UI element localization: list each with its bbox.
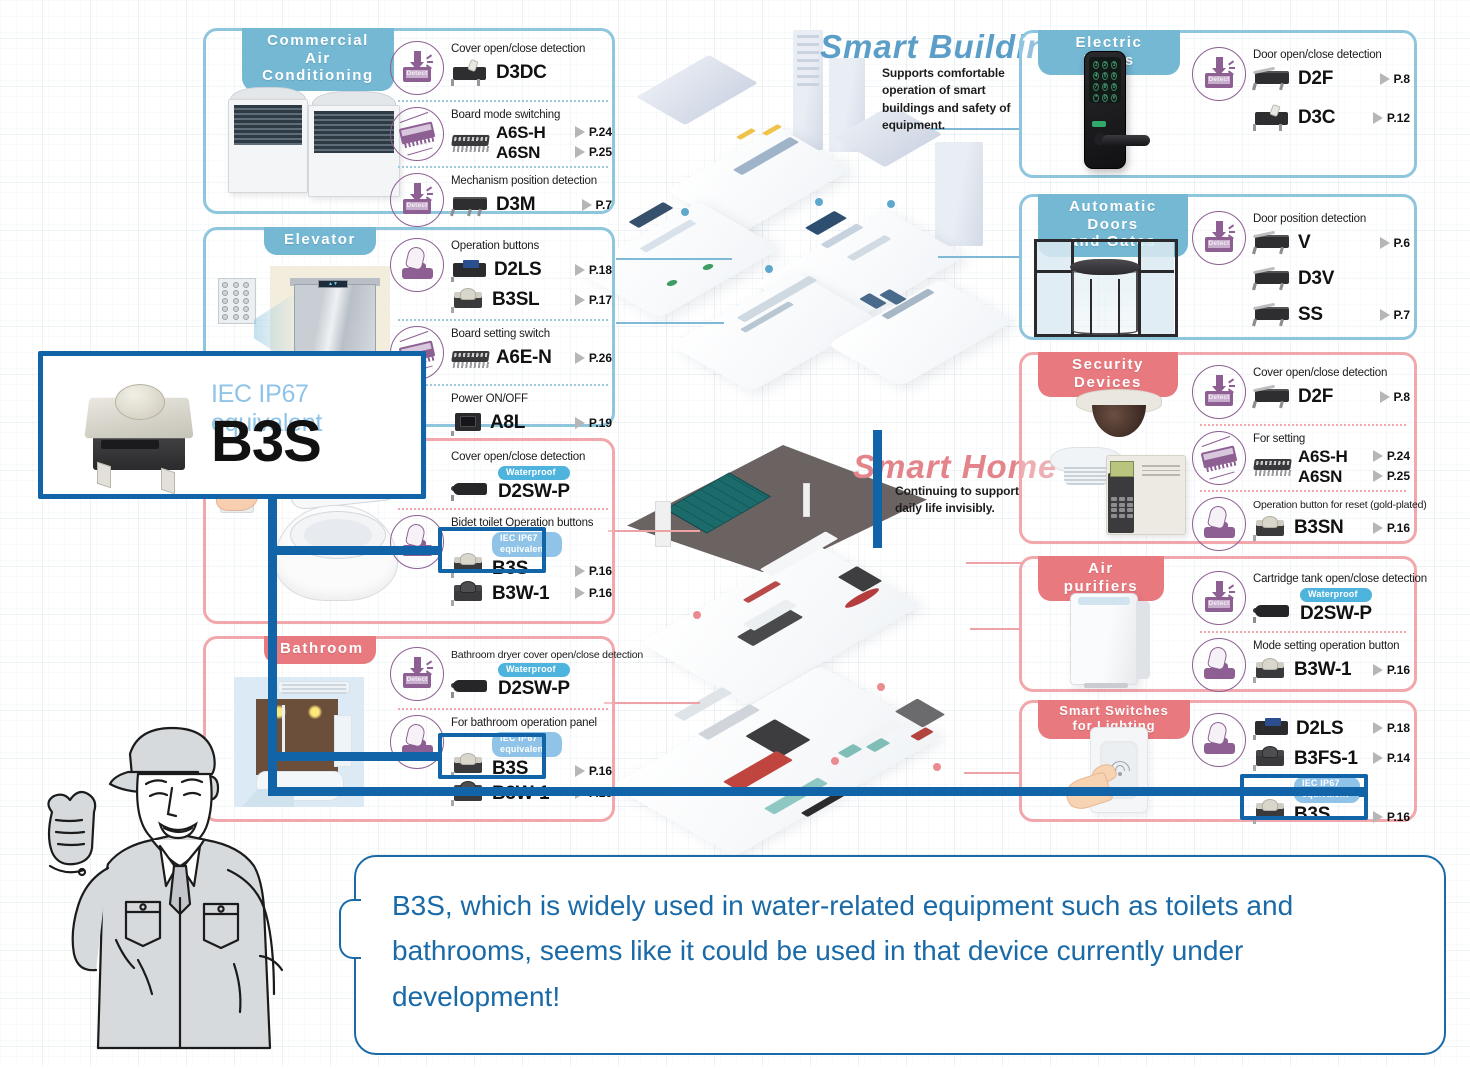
- arrow-icon: [575, 765, 585, 777]
- part-number: A6SN: [1298, 468, 1342, 485]
- panel-title-bathroom: Bathroom: [264, 636, 376, 664]
- waterproof-badge: Waterproof: [498, 466, 570, 480]
- part-number: A6SN: [496, 144, 540, 161]
- product-row[interactable]: Detect Door position detection V P.6: [1192, 211, 1410, 330]
- engineer-character-illustration: [12, 716, 322, 1066]
- page-reference[interactable]: P.16: [567, 764, 612, 778]
- product-row[interactable]: Detect Mechanism position detection D3M …: [390, 173, 612, 227]
- arrow-icon: [575, 565, 585, 577]
- row-caption: Cover open/close detection: [451, 451, 612, 465]
- arrow-icon: [1373, 722, 1383, 734]
- detect-icon: Detect: [1192, 47, 1246, 101]
- detect-icon: Detect: [1192, 365, 1246, 419]
- b3s-callout[interactable]: IEC IP67 equivalent B3S: [38, 351, 426, 499]
- page-reference[interactable]: P.12: [1365, 111, 1410, 125]
- product-row[interactable]: D2LS P.18 B3FS-1 P.14: [1192, 713, 1410, 824]
- speech-bubble: B3S, which is widely used in water-relat…: [354, 855, 1446, 1055]
- page-reference[interactable]: P.24: [1365, 449, 1410, 463]
- connector-line: [938, 256, 1022, 258]
- page-reference[interactable]: P.18: [567, 263, 612, 277]
- row-caption: Power ON/OFF: [451, 393, 612, 407]
- page-reference[interactable]: P.8: [1372, 390, 1410, 404]
- product-row[interactable]: Detect Bathroom dryer cover open/close d…: [390, 647, 612, 701]
- part-number: B3SL: [492, 290, 539, 309]
- part-number: V: [1298, 233, 1310, 252]
- waterproof-badge: Waterproof: [498, 663, 570, 677]
- press-button-icon: [1192, 497, 1246, 551]
- product-row[interactable]: Bidet toilet Operation buttons IEC IP67 …: [390, 515, 612, 608]
- arrow-icon: [1373, 470, 1383, 482]
- page-reference[interactable]: P.16: [567, 564, 612, 578]
- security-devices-photo: [1050, 389, 1186, 541]
- switch-b3w-1-icon: [1253, 657, 1289, 683]
- connector-line: [964, 772, 1022, 774]
- part-number: A6S-H: [496, 124, 546, 141]
- connector-line: [608, 530, 700, 532]
- panel-commercial-air-conditioning[interactable]: Commercial Air Conditioning Detect Cover…: [203, 28, 615, 214]
- part-number: B3FS-1: [1294, 749, 1358, 768]
- detect-icon: Detect: [390, 173, 444, 227]
- row-caption: For setting: [1253, 433, 1410, 447]
- arrow-icon: [1373, 664, 1383, 676]
- switch-d2f-icon: [1253, 68, 1293, 90]
- switch-d2sw-p-icon: [451, 676, 493, 698]
- switch-d2sw-p-icon: [1253, 601, 1295, 623]
- page-reference[interactable]: P.16: [1365, 521, 1410, 535]
- page-reference[interactable]: P.7: [574, 198, 612, 212]
- page-reference[interactable]: P.14: [1365, 751, 1410, 765]
- switch-d2ls-icon: [451, 258, 489, 282]
- page-reference[interactable]: P.25: [1365, 469, 1410, 483]
- electric-lock-photo: 123456789*0#: [1064, 47, 1150, 173]
- switch-a6s-icon: [1253, 455, 1293, 477]
- arrow-icon: [1373, 752, 1383, 764]
- row-caption: Bathroom dryer cover open/close detectio…: [451, 649, 612, 662]
- part-number: B3S: [1294, 805, 1360, 824]
- switch-b3s-icon: [1253, 798, 1289, 824]
- switch-a6e-n-icon: [451, 347, 491, 369]
- switch-d2sw-p-icon: [451, 479, 493, 501]
- row-caption: For bathroom operation panel: [451, 717, 612, 731]
- arrow-icon: [575, 294, 585, 306]
- row-caption: Cartridge tank open/close detection: [1253, 573, 1410, 587]
- page-reference[interactable]: P.17: [567, 293, 612, 307]
- part-number: D2SW-P: [498, 679, 570, 698]
- row-caption: Door position detection: [1253, 213, 1410, 227]
- part-number: A6S-H: [1298, 448, 1348, 465]
- ip67-badge: IEC IP67 equivalent: [492, 532, 562, 558]
- waterproof-badge: Waterproof: [1300, 588, 1372, 602]
- arrow-icon: [575, 587, 585, 599]
- arrow-icon: [575, 417, 585, 429]
- arrow-icon: [1373, 811, 1383, 823]
- highlight-connector: [268, 546, 442, 555]
- switch-d2ls-icon: [1253, 716, 1291, 740]
- panel-title-elevator: Elevator: [264, 227, 376, 255]
- arrow-icon: [1373, 450, 1383, 462]
- switch-b3s-icon: [451, 552, 487, 578]
- part-number: D2LS: [1296, 719, 1343, 738]
- speech-bubble-text: B3S, which is widely used in water-relat…: [356, 857, 1444, 1045]
- arrow-icon: [575, 264, 585, 276]
- part-number: D3C: [1298, 108, 1335, 127]
- ip67-badge: IEC IP67 equivalent: [492, 732, 562, 758]
- page-reference[interactable]: P.7: [1372, 308, 1410, 322]
- panel-smart-switches-for-lighting[interactable]: Smart Switches for Lighting D2LS: [1019, 700, 1417, 822]
- row-caption: Mode setting operation button: [1253, 640, 1410, 654]
- highlight-connector: [873, 430, 882, 548]
- part-number: A8L: [490, 413, 525, 432]
- switch-a8l-icon: [451, 410, 485, 436]
- switch-ss-icon: [1253, 304, 1293, 326]
- connector-line: [966, 562, 1022, 564]
- arrow-icon: [1380, 73, 1390, 85]
- setting-icon: [1192, 431, 1246, 485]
- page-reference[interactable]: P.16: [1365, 810, 1410, 824]
- page-reference[interactable]: P.16: [567, 586, 612, 600]
- switch-d3c-icon: [1253, 105, 1293, 131]
- switch-b3sl-icon: [451, 287, 487, 313]
- detect-icon: Detect: [1192, 211, 1246, 265]
- arrow-icon: [1373, 112, 1383, 124]
- product-row[interactable]: Detect Cartridge tank open/close detecti…: [1192, 571, 1410, 625]
- switch-b3sn-icon: [1253, 515, 1289, 541]
- switch-b3w-1-icon: [451, 580, 487, 606]
- row-caption: Cover open/close detection: [451, 43, 612, 57]
- part-number: SS: [1298, 305, 1323, 324]
- panel-title-commercial-air-conditioning: Commercial Air Conditioning: [242, 28, 394, 91]
- part-number: D2SW-P: [498, 482, 570, 501]
- arrow-icon: [582, 199, 592, 211]
- product-row[interactable]: Mode setting operation button B3W-1 P.16: [1192, 638, 1410, 692]
- smart-building-subtitle: Supports comfortable operation of smart …: [882, 65, 1010, 135]
- highlight-connector: [268, 787, 1368, 796]
- page-reference[interactable]: P.16: [1365, 663, 1410, 677]
- part-number: D2F: [1298, 69, 1333, 88]
- switch-d3v-icon: [1253, 268, 1293, 290]
- page-reference[interactable]: P.24: [567, 125, 612, 139]
- part-number: D2F: [1298, 387, 1333, 406]
- product-row[interactable]: Board mode switching A6S-H P.24: [390, 107, 612, 161]
- page-reference[interactable]: P.26: [567, 351, 612, 365]
- part-number: D2SW-P: [1300, 604, 1372, 623]
- product-row[interactable]: Detect Door open/close detection D2F P.8: [1192, 47, 1410, 133]
- press-button-icon: [390, 238, 444, 292]
- switch-d3m-icon: [451, 194, 491, 216]
- press-button-icon: [390, 515, 444, 569]
- panel-air-purifiers[interactable]: Air purifiers Detect Cartridge tank open…: [1019, 556, 1417, 692]
- row-caption: Board mode switching: [451, 109, 612, 123]
- row-caption: Door open/close detection: [1253, 49, 1410, 63]
- switch-d2f-icon: [1253, 386, 1293, 408]
- part-number: A6E-N: [496, 348, 552, 367]
- arrow-icon: [575, 126, 585, 138]
- connector-line: [604, 702, 700, 704]
- row-caption: Operation button for reset (gold-plated): [1253, 499, 1410, 512]
- part-number: B3W-1: [1294, 660, 1351, 679]
- smart-home-subtitle: Continuing to support daily life invisib…: [895, 483, 1019, 518]
- highlight-connector: [1359, 787, 1368, 797]
- part-number: D3M: [496, 195, 535, 214]
- arrow-icon: [1380, 391, 1390, 403]
- row-caption: Mechanism position detection: [451, 175, 612, 189]
- page-reference[interactable]: P.19: [567, 416, 612, 430]
- air-purifier-photo: [1066, 589, 1160, 689]
- detect-icon: Detect: [390, 647, 444, 701]
- page-reference[interactable]: P.6: [1372, 236, 1410, 250]
- b3s-callout-part: B3S: [211, 413, 321, 471]
- connector-line: [616, 258, 732, 260]
- press-button-icon: [1192, 713, 1246, 767]
- product-row[interactable]: Operation button for reset (gold-plated)…: [1192, 497, 1410, 551]
- connector-line: [970, 628, 1022, 630]
- arrow-icon: [575, 146, 585, 158]
- page-reference[interactable]: P.18: [1365, 721, 1410, 735]
- detect-icon: Detect: [390, 41, 444, 95]
- panel-automatic-doors-and-gates[interactable]: Automatic Doors and Gates Detect Door po…: [1019, 194, 1417, 340]
- b3s-switch-photo: [85, 378, 201, 486]
- connector-line: [616, 322, 724, 324]
- arrow-icon: [1380, 237, 1390, 249]
- arrow-icon: [1373, 522, 1383, 534]
- product-row[interactable]: Detect Cover open/close detection D2F P.…: [1192, 365, 1410, 419]
- part-number: B3S: [492, 759, 562, 778]
- part-number: D3V: [1298, 269, 1334, 288]
- panel-electric-locks[interactable]: Electric Locks 123456789*0# Detect Door …: [1019, 30, 1417, 178]
- switch-b3s-icon: [451, 752, 487, 778]
- air-conditioner-photo: [216, 87, 406, 203]
- arrow-icon: [575, 352, 585, 364]
- switch-b3fs-1-icon: [1253, 745, 1289, 771]
- part-number: B3S: [492, 559, 562, 578]
- revolving-door-photo: [1034, 239, 1178, 337]
- switch-d3dc-icon: [451, 60, 491, 86]
- panel-security-devices[interactable]: Security Devices Detect: [1019, 352, 1417, 544]
- product-row[interactable]: Detect Cover open/close detection D3DC: [390, 41, 612, 95]
- product-row[interactable]: For setting A6S-H P.24: [1192, 431, 1410, 485]
- product-row[interactable]: Operation buttons D2LS P.18: [390, 238, 612, 315]
- part-number: D3DC: [496, 63, 547, 82]
- row-caption: Bidet toilet Operation buttons: [451, 517, 612, 531]
- arrow-icon: [1380, 309, 1390, 321]
- switch-a6s-icon: [451, 131, 491, 153]
- part-number: D2LS: [494, 260, 541, 279]
- switch-v-icon: [1253, 232, 1293, 254]
- part-number: B3SN: [1294, 518, 1343, 537]
- page-reference[interactable]: P.8: [1372, 72, 1410, 86]
- detect-icon: Detect: [1192, 571, 1246, 625]
- wall-switch-photo: [1070, 725, 1180, 821]
- setting-icon: [390, 107, 444, 161]
- row-caption: Board setting switch: [451, 328, 612, 342]
- row-caption: Operation buttons: [451, 240, 612, 254]
- press-button-icon: [1192, 638, 1246, 692]
- part-number: B3W-1: [492, 584, 549, 603]
- page-reference[interactable]: P.25: [567, 145, 612, 159]
- row-caption: Cover open/close detection: [1253, 367, 1410, 381]
